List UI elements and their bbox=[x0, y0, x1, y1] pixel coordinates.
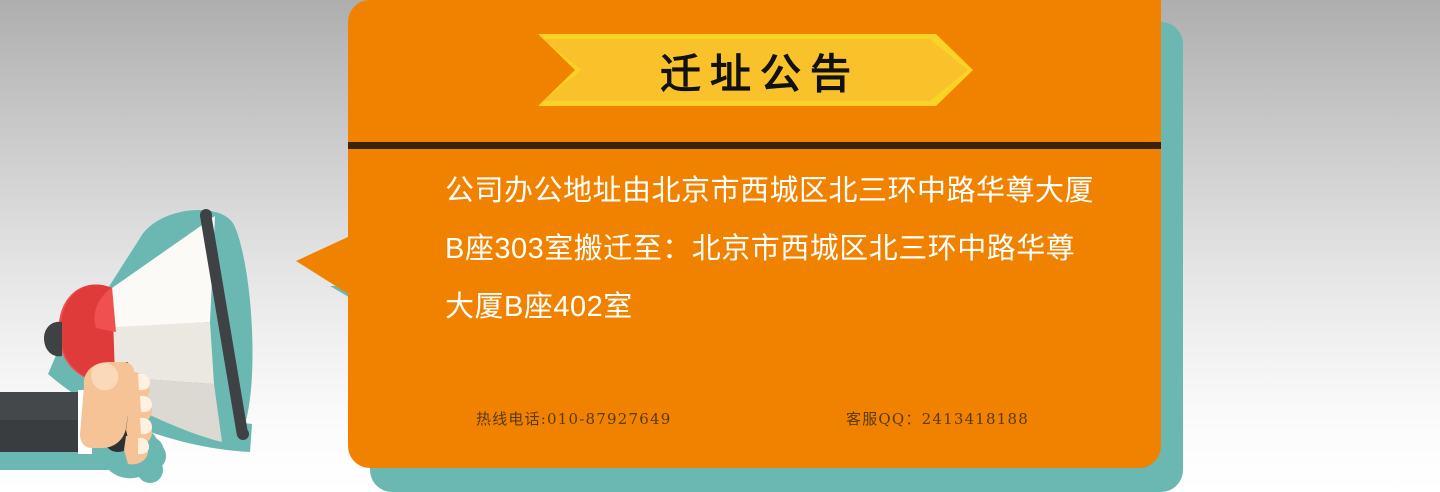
hotline-text: 热线电话:010-87927649 bbox=[476, 408, 672, 429]
footer-contacts: 热线电话:010-87927649 客服QQ：2413418188 bbox=[348, 408, 1161, 436]
divider bbox=[348, 142, 1161, 149]
announcement-card: 迁址公告 公司办公地址由北京市西城区北三环中路华尊大厦B座303室搬迁至：北京市… bbox=[348, 0, 1161, 468]
sleeve bbox=[0, 390, 92, 454]
customer-service-qq-text: 客服QQ：2413418188 bbox=[846, 408, 1029, 429]
announcement-banner: 迁址公告 公司办公地址由北京市西城区北三环中路华尊大厦B座303室搬迁至：北京市… bbox=[0, 0, 1440, 492]
megaphone-icon bbox=[0, 180, 320, 492]
page-title: 迁址公告 bbox=[538, 34, 973, 106]
announcement-body: 公司办公地址由北京市西城区北三环中路华尊大厦B座303室搬迁至：北京市西城区北三… bbox=[445, 162, 1095, 336]
title-ribbon: 迁址公告 bbox=[538, 34, 973, 106]
